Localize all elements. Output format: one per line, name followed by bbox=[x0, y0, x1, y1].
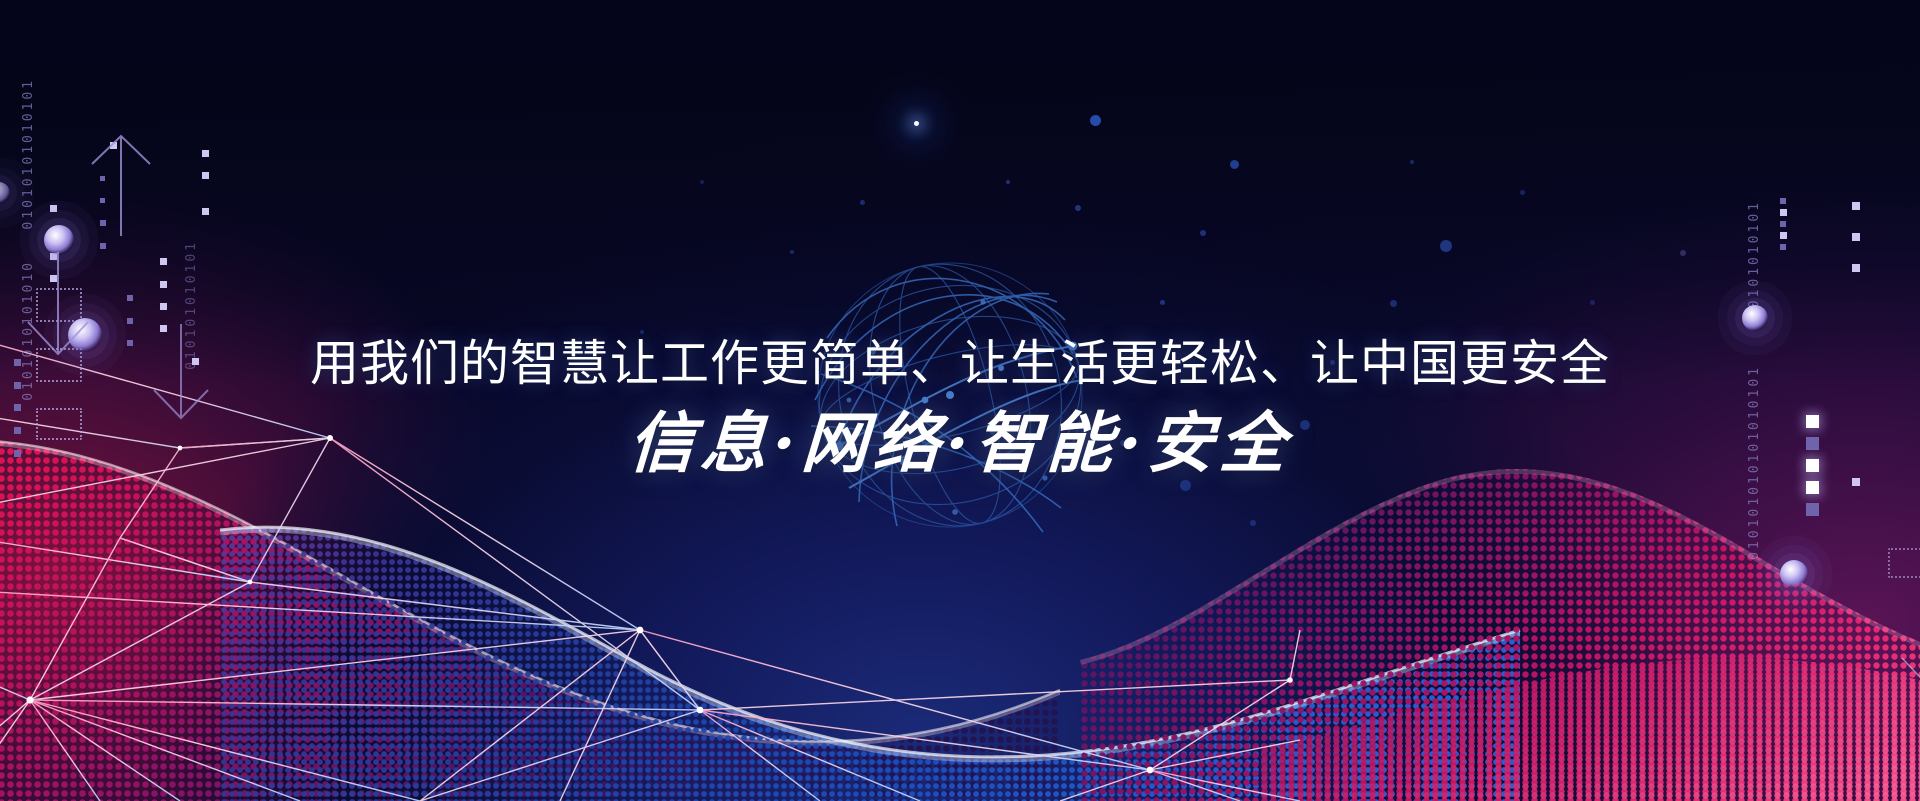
deco-square bbox=[50, 205, 57, 212]
particle-dot bbox=[1410, 160, 1414, 164]
particle-dot bbox=[790, 250, 794, 254]
deco-square bbox=[1852, 233, 1860, 241]
particle-dot bbox=[700, 180, 704, 184]
particle-dot bbox=[1590, 300, 1595, 305]
page-subtitle: 信息·网络·智能·安全 bbox=[0, 409, 1920, 478]
deco-square bbox=[1806, 503, 1819, 516]
deco-square bbox=[160, 281, 167, 288]
page-title: 用我们的智慧让工作更简单、让生活更轻松、让中国更安全 bbox=[0, 336, 1920, 393]
deco-square bbox=[1806, 481, 1819, 494]
bright-star bbox=[914, 121, 919, 126]
binary-text-left-top: 01010101010101 bbox=[22, 78, 35, 230]
particle-dot bbox=[860, 200, 865, 205]
particle-dot bbox=[1006, 180, 1010, 184]
particle-dot bbox=[1230, 160, 1239, 169]
deco-square bbox=[202, 208, 209, 215]
deco-square bbox=[127, 295, 133, 301]
deco-node-glow bbox=[0, 182, 10, 204]
deco-square bbox=[127, 318, 133, 324]
deco-square bbox=[1852, 478, 1860, 486]
particle-dot bbox=[1090, 115, 1101, 126]
deco-square bbox=[202, 172, 209, 179]
deco-square bbox=[1780, 244, 1786, 250]
particle-dot bbox=[1680, 250, 1686, 256]
particle-dot bbox=[1520, 190, 1525, 195]
banner-canvas: 01010101010101 0101010101010 01010101010… bbox=[0, 0, 1920, 801]
deco-square bbox=[100, 243, 106, 249]
deco-tick-line bbox=[1898, 620, 1920, 740]
deco-square bbox=[1780, 221, 1786, 227]
banner-copy: 用我们的智慧让工作更简单、让生活更轻松、让中国更安全 信息·网络·智能·安全 bbox=[0, 336, 1920, 478]
deco-dotted-rect bbox=[1888, 548, 1920, 578]
particle-dot bbox=[1075, 205, 1081, 211]
deco-square bbox=[160, 303, 167, 310]
deco-node-glow bbox=[1780, 560, 1808, 588]
deco-square bbox=[1780, 198, 1786, 204]
deco-square bbox=[1852, 264, 1860, 272]
deco-node-glow bbox=[1742, 305, 1768, 331]
arrow-up-icon bbox=[86, 130, 156, 240]
deco-square bbox=[160, 258, 167, 265]
deco-square bbox=[1780, 209, 1787, 216]
binary-text-right-top: 0101010101 bbox=[1748, 200, 1761, 308]
particle-dot bbox=[1200, 230, 1206, 236]
deco-square bbox=[1852, 202, 1860, 210]
particle-dot bbox=[1440, 240, 1452, 252]
particle-dot bbox=[1390, 300, 1397, 307]
deco-square bbox=[202, 150, 209, 157]
deco-square bbox=[1780, 232, 1787, 239]
